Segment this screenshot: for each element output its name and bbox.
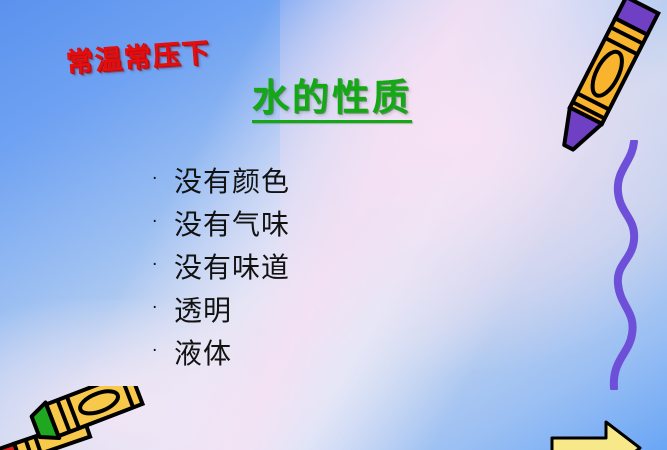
page-title: 水的性质: [252, 79, 412, 123]
slide-canvas: 常温常压下 水的性质 · 没有颜色 · 没有气味 · 没有味道 · 透明 · 液…: [0, 0, 667, 450]
list-item: · 透明: [152, 287, 290, 330]
list-item-label: 没有颜色: [174, 160, 290, 200]
list-item: · 没有气味: [152, 201, 290, 244]
page-title-text: 水的性质: [252, 79, 412, 116]
list-item: · 没有颜色: [152, 158, 290, 201]
list-item-label: 没有味道: [174, 246, 290, 286]
list-item: · 没有味道: [152, 244, 290, 287]
bullet-icon: ·: [152, 214, 174, 231]
list-item-label: 透明: [174, 289, 232, 329]
list-item-label: 液体: [174, 332, 232, 372]
properties-list: · 没有颜色 · 没有气味 · 没有味道 · 透明 · 液体: [152, 158, 290, 373]
slide-background-radial-glow-top: [280, 0, 667, 370]
list-item: · 液体: [152, 330, 290, 373]
bullet-icon: ·: [152, 343, 174, 360]
list-item-label: 没有气味: [174, 203, 290, 243]
page-title-underline: [252, 120, 412, 123]
bullet-icon: ·: [152, 300, 174, 317]
bullet-icon: ·: [152, 171, 174, 188]
bullet-icon: ·: [152, 257, 174, 274]
